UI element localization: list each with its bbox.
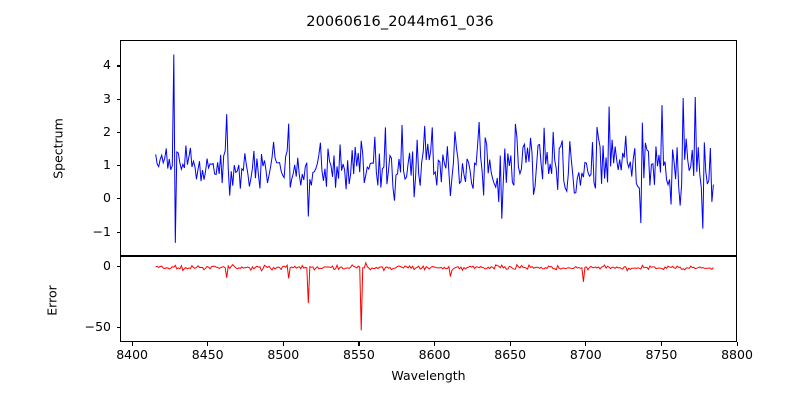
spectrum-y-axis-label: Spectrum [51, 89, 66, 209]
x-tick-label: 8650 [494, 347, 526, 362]
figure-title: 20060616_2044m61_036 [0, 14, 800, 30]
error-trace [156, 263, 714, 330]
spectrum-ytick-mark [117, 232, 121, 233]
spectrum-ytick-mark [117, 165, 121, 166]
x-tick-label: 8800 [721, 347, 753, 362]
x-tick-label: 8500 [267, 347, 299, 362]
x-tick-label: 8700 [570, 347, 602, 362]
error-y-axis-label: Error [45, 241, 60, 361]
x-tick-mark [737, 342, 738, 346]
x-tick-mark [207, 342, 208, 346]
spectrum-ytick-mark [117, 198, 121, 199]
spectrum-trace [156, 54, 714, 242]
x-tick-label: 8750 [645, 347, 677, 362]
x-tick-mark [434, 342, 435, 346]
x-tick-mark [661, 342, 662, 346]
figure-canvas: 20060616_2044m61_036 −1012340−5084008450… [0, 0, 800, 400]
x-tick-label: 8400 [116, 347, 148, 362]
x-tick-mark [132, 342, 133, 346]
spectrum-ytick-mark [117, 132, 121, 133]
x-axis-label: Wavelength [120, 368, 737, 383]
spectrum-ytick-mark [117, 99, 121, 100]
error-ytick-mark [117, 327, 121, 328]
x-tick-mark [510, 342, 511, 346]
spectrum-line-series [121, 41, 736, 255]
error-ytick-mark [117, 266, 121, 267]
x-tick-label: 8450 [192, 347, 224, 362]
x-tick-label: 8600 [419, 347, 451, 362]
error-line-series [121, 257, 736, 341]
spectrum-ytick-mark [117, 65, 121, 66]
error-axes [120, 256, 737, 342]
x-tick-label: 8550 [343, 347, 375, 362]
spectrum-axes [120, 40, 737, 256]
x-tick-mark [585, 342, 586, 346]
x-tick-mark [283, 342, 284, 346]
x-tick-mark [358, 342, 359, 346]
